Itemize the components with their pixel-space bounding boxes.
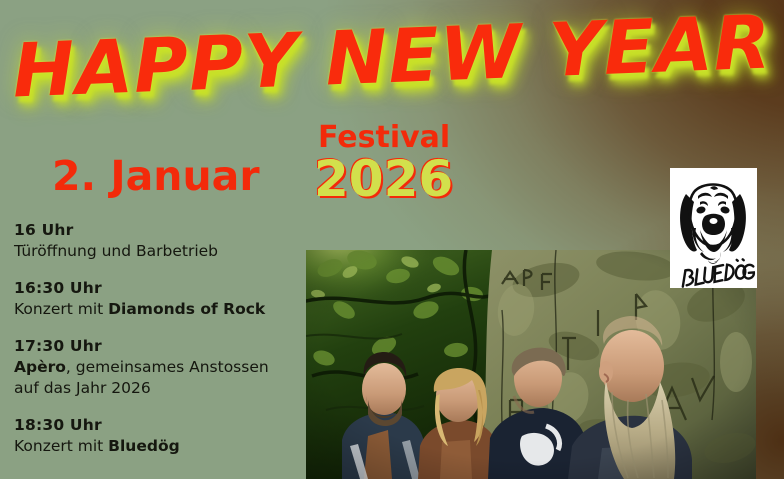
event-year: 2026 [314,150,453,208]
programme-description: Apèro, gemeinsames Anstossen [14,357,314,378]
programme-desc-prefix: Konzert mit [14,300,108,318]
event-date: 2. Januar [52,152,260,200]
programme-time: 17:30 Uhr [14,336,314,357]
programme-desc-prefix: Türöffnung und Barbetrieb [14,242,218,260]
list-item: 16:30 Uhr Konzert mit Diamonds of Rock [14,278,314,319]
programme-desc-highlight: Bluedög [108,437,180,455]
programme-description: Türöffnung und Barbetrieb [14,241,314,262]
programme-time: 16 Uhr [14,220,314,241]
programme-desc-highlight: Diamonds of Rock [108,300,265,318]
programme-time: 16:30 Uhr [14,278,314,299]
programme-description-line2: auf das Jahr 2026 [14,378,314,399]
programme-description: Konzert mit Bluedög [14,436,314,457]
programme-description: Konzert mit Diamonds of Rock [14,299,314,320]
list-item: 17:30 Uhr Apèro, gemeinsames Anstossen a… [14,336,314,398]
programme-desc-suffix: , gemeinsames Anstossen [66,358,269,376]
programme-list: 16 Uhr Türöffnung und Barbetrieb 16:30 U… [14,220,314,456]
event-poster: HAPPY NEW YEAR 2. Januar Festival 2026 1… [0,0,784,479]
list-item: 16 Uhr Türöffnung und Barbetrieb [14,220,314,261]
programme-time: 18:30 Uhr [14,415,314,436]
list-item: 18:30 Uhr Konzert mit Bluedög [14,415,314,456]
bluedog-logo-card [670,168,757,288]
programme-desc-highlight: Apèro [14,358,66,376]
programme-desc-prefix: Konzert mit [14,437,108,455]
